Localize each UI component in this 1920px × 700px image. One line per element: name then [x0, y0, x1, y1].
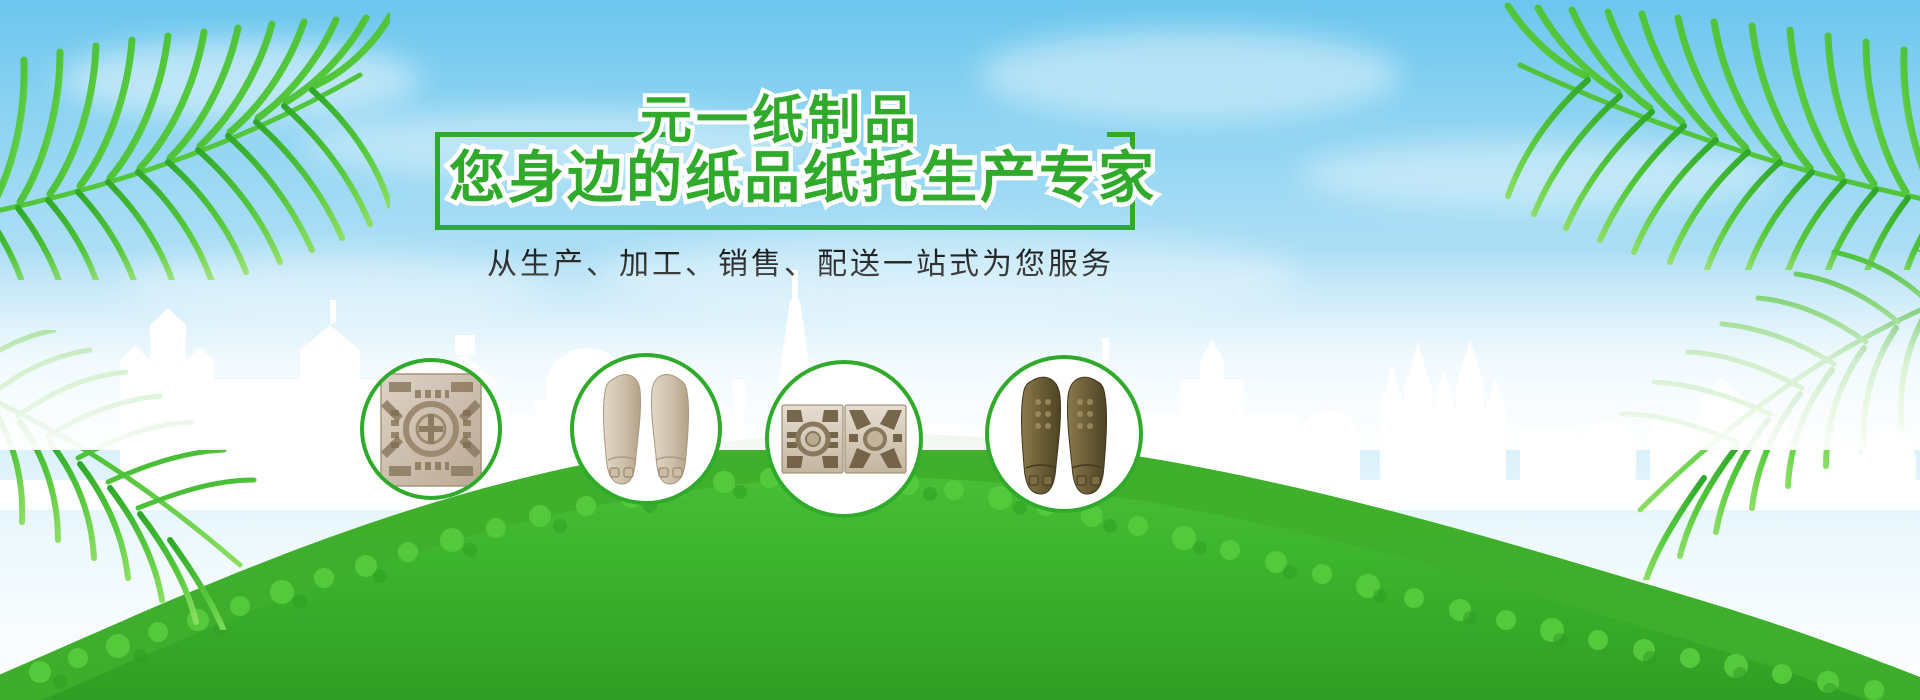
frame-left-rule: [435, 132, 440, 230]
pulp-shoe-form-pair-light-icon: [592, 364, 700, 494]
frame-bottom-rule: [435, 225, 1135, 230]
palm-leaf-icon: [1500, 0, 1920, 270]
product-circle-pulp-shoe-form-dark[interactable]: [985, 355, 1143, 513]
pulp-packaging-insert-pair-icon: [781, 402, 907, 476]
headline-line-1: 元一纸制品: [640, 95, 920, 147]
headline-line-2: 您身边的纸品纸托生产专家: [449, 151, 1157, 207]
product-circle-square-pulp-tray[interactable]: [360, 358, 502, 500]
mist-overlay: [0, 250, 1920, 450]
frame-top-rule: [435, 132, 675, 137]
product-circle-pulp-shoe-form-light[interactable]: [570, 353, 722, 505]
square-pulp-tray-icon: [379, 370, 483, 488]
promo-banner: 元一纸制品 您身边的纸品纸托生产专家 从生产、加工、销售、配送一站式为您服务: [0, 0, 1920, 700]
pulp-shoe-form-pair-dark-icon: [1008, 368, 1120, 500]
product-circle-pulp-packaging-insert-pair[interactable]: [765, 360, 923, 518]
headline-block: 元一纸制品 您身边的纸品纸托生产专家: [435, 95, 1135, 230]
palm-leaf-icon: [0, 0, 390, 280]
